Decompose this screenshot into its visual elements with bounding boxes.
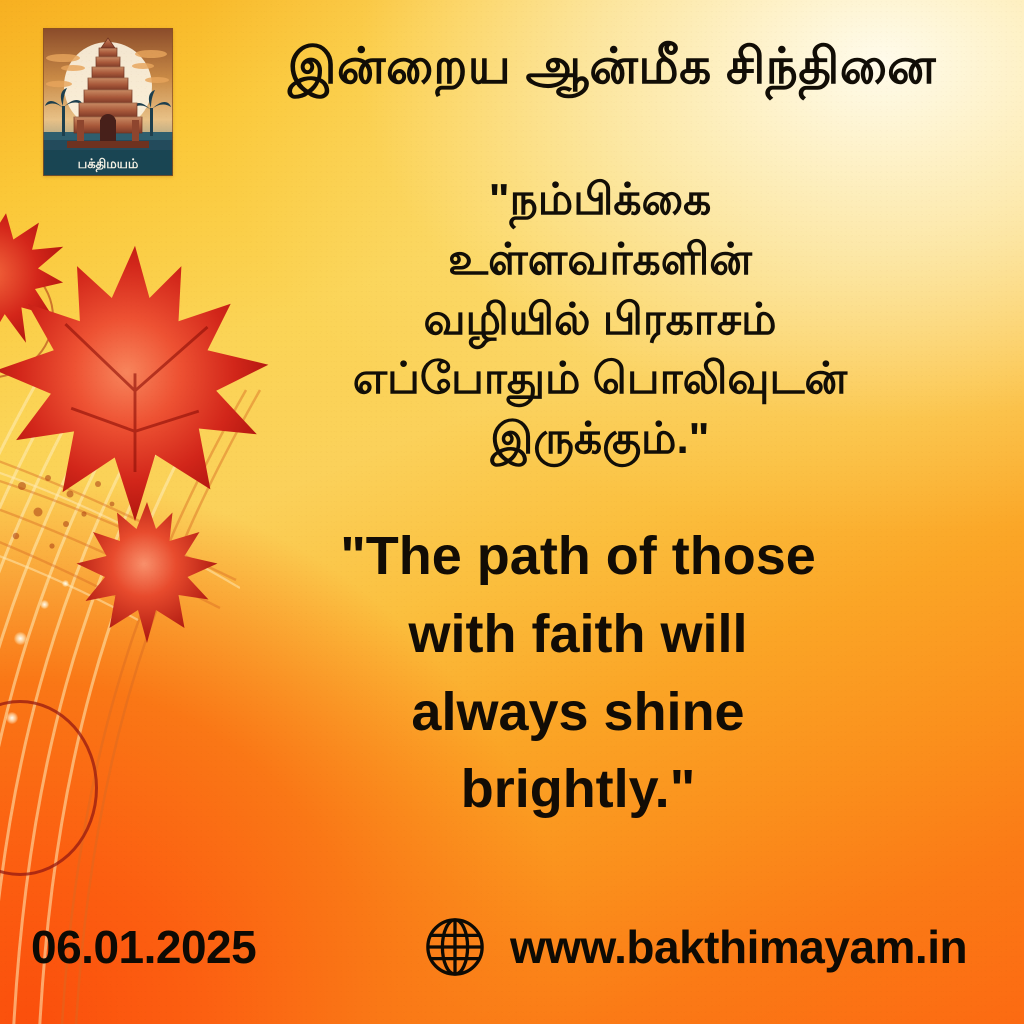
english-quote-line: "The path of those — [215, 518, 941, 596]
tamil-quote-line: "நம்பிக்கை — [215, 170, 985, 230]
website-url-text: www.bakthimayam.in — [510, 920, 967, 974]
english-quote-line: with faith will — [215, 596, 941, 674]
tamil-quote: "நம்பிக்கை உள்ளவர்களின் வழியில் பிரகாசம்… — [215, 170, 985, 469]
poster-canvas: பக்திமயம் இன்றைய ஆன்மீக சிந்தினை "நம்பிக… — [0, 0, 1024, 1024]
ring-decoration-upper — [0, 255, 54, 379]
tamil-quote-line: உள்ளவர்களின் — [215, 230, 985, 290]
page-title: இன்றைய ஆன்மீக சிந்தினை — [200, 38, 1024, 94]
temple-logo[interactable]: பக்திமயம் — [43, 28, 173, 176]
logo-caption: பக்திமயம் — [78, 156, 139, 172]
english-quote-line: brightly." — [215, 751, 941, 829]
tamil-quote-line: வழியில் பிரகாசம் — [215, 290, 985, 350]
english-quote: "The path of those with faith will alway… — [215, 518, 941, 829]
tamil-quote-line: எப்போதும் பொலிவுடன் — [215, 349, 985, 409]
sparkle-decoration — [14, 632, 27, 645]
website-link[interactable]: www.bakthimayam.in — [424, 916, 967, 978]
maple-leaf-decoration — [0, 174, 99, 379]
maple-leaf-decoration — [72, 495, 222, 650]
dot-cluster-decoration — [8, 470, 168, 630]
sparkle-decoration — [62, 580, 69, 587]
sparkle-decoration — [6, 712, 18, 724]
sparkle-decoration — [40, 600, 49, 609]
tamil-quote-line: இருக்கும்." — [215, 409, 985, 469]
ring-decoration-lower — [0, 700, 98, 876]
english-quote-line: always shine — [215, 674, 941, 752]
globe-icon — [424, 916, 486, 978]
swirl-arcs-upper-decoration — [0, 430, 240, 730]
date-label: 06.01.2025 — [31, 920, 256, 974]
